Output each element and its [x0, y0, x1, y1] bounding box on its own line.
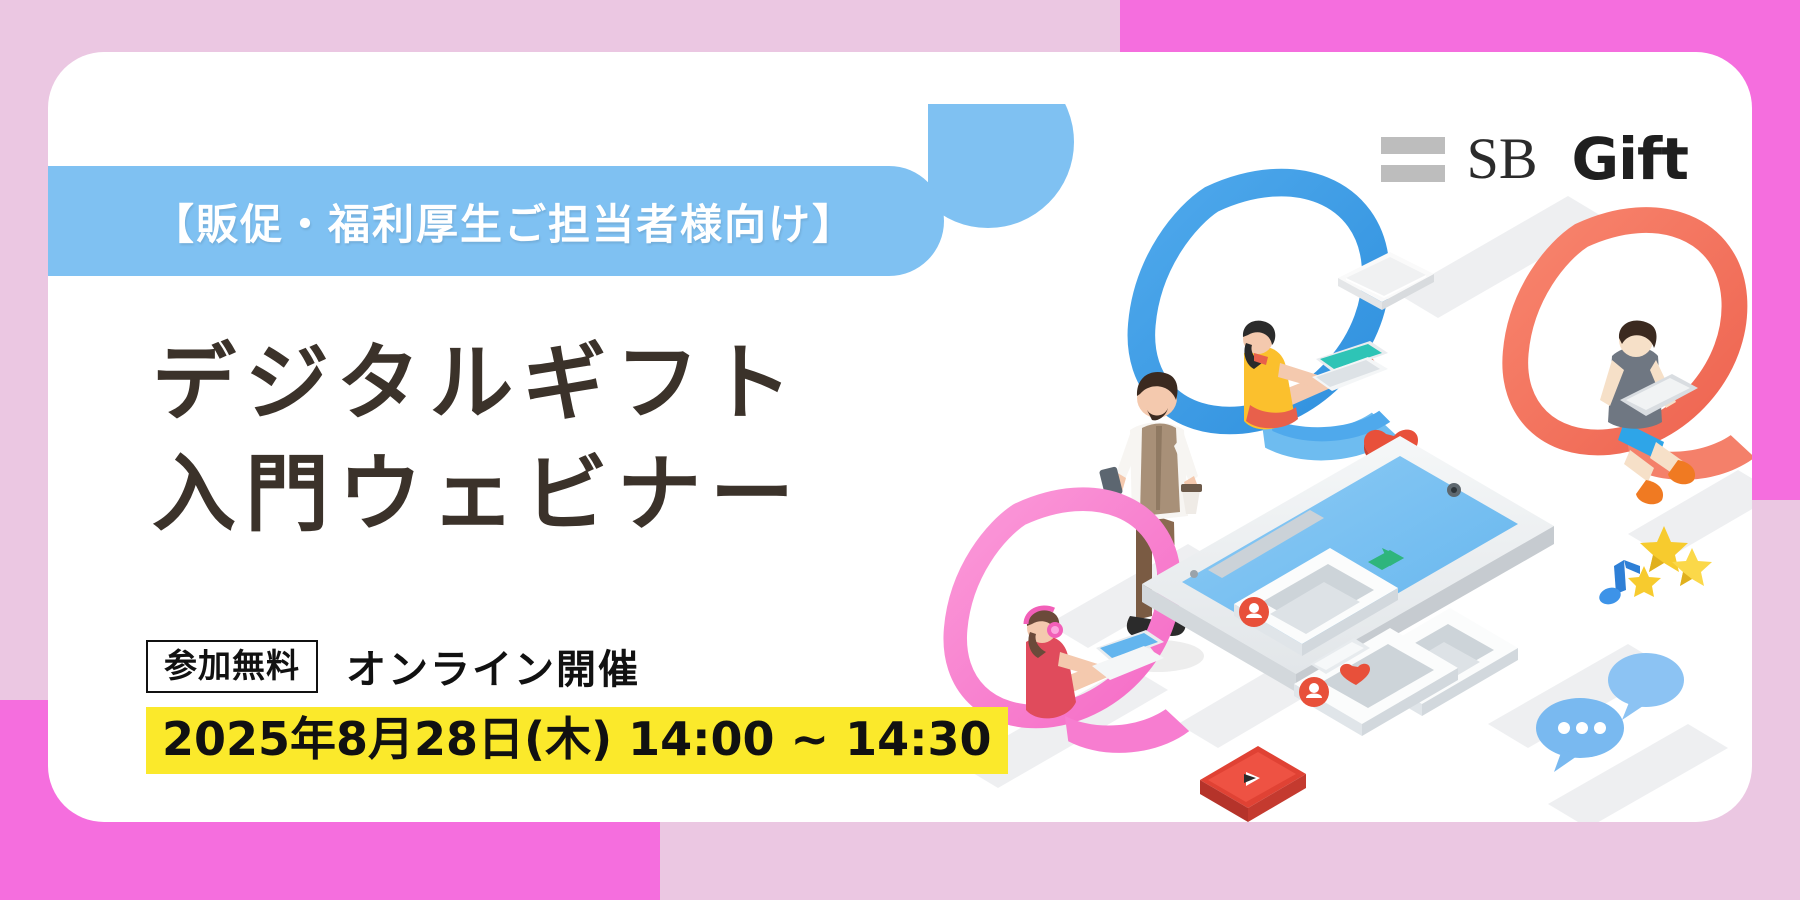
isometric-tablet: [1142, 436, 1554, 736]
audience-ribbon: 【販促・福利厚生ご担当者様向け】: [48, 166, 944, 276]
video-player-icon: [1200, 746, 1306, 822]
coral-ring-group: [1515, 220, 1752, 504]
page-title: デジタルギフト 入門ウェビナー: [152, 328, 803, 550]
logo-text-sb: SB: [1467, 130, 1538, 188]
hero-illustration: [928, 104, 1752, 822]
free-admission-badge: 参加無料: [146, 640, 318, 693]
page-title-line-2: 入門ウェビナー: [152, 439, 803, 550]
audience-ribbon-label: 【販促・福利厚生ご担当者様向け】: [152, 191, 856, 252]
logo-text-gift: Gift: [1572, 130, 1688, 188]
blue-ring-group: [1141, 183, 1397, 461]
event-schedule: 2025年8月28日(木) 14:00 ~ 14:30: [146, 707, 1008, 774]
blue-blob: [928, 104, 1074, 228]
event-format-label: オンライン開催: [346, 637, 640, 695]
speech-bubble-icon: [1536, 698, 1624, 772]
sb-gift-logo: SB Gift: [1381, 130, 1688, 188]
two-bars-icon: [1381, 137, 1445, 182]
event-date-time: 2025年8月28日(木) 14:00 ~ 14:30: [146, 707, 1008, 774]
banner-root: 【販促・福利厚生ご担当者様向け】 SB Gift デジタルギフト 入門ウェビナー…: [0, 0, 1800, 900]
speech-bubble-icon: [1608, 653, 1684, 720]
logo-bar-top: [1381, 137, 1445, 154]
page-title-line-1: デジタルギフト: [152, 328, 803, 439]
logo-bar-bottom: [1381, 165, 1445, 182]
star-icon: [1672, 548, 1712, 586]
content-card: 【販促・福利厚生ご担当者様向け】 SB Gift デジタルギフト 入門ウェビナー…: [48, 52, 1752, 822]
event-meta-row: 参加無料 オンライン開催: [146, 637, 640, 695]
